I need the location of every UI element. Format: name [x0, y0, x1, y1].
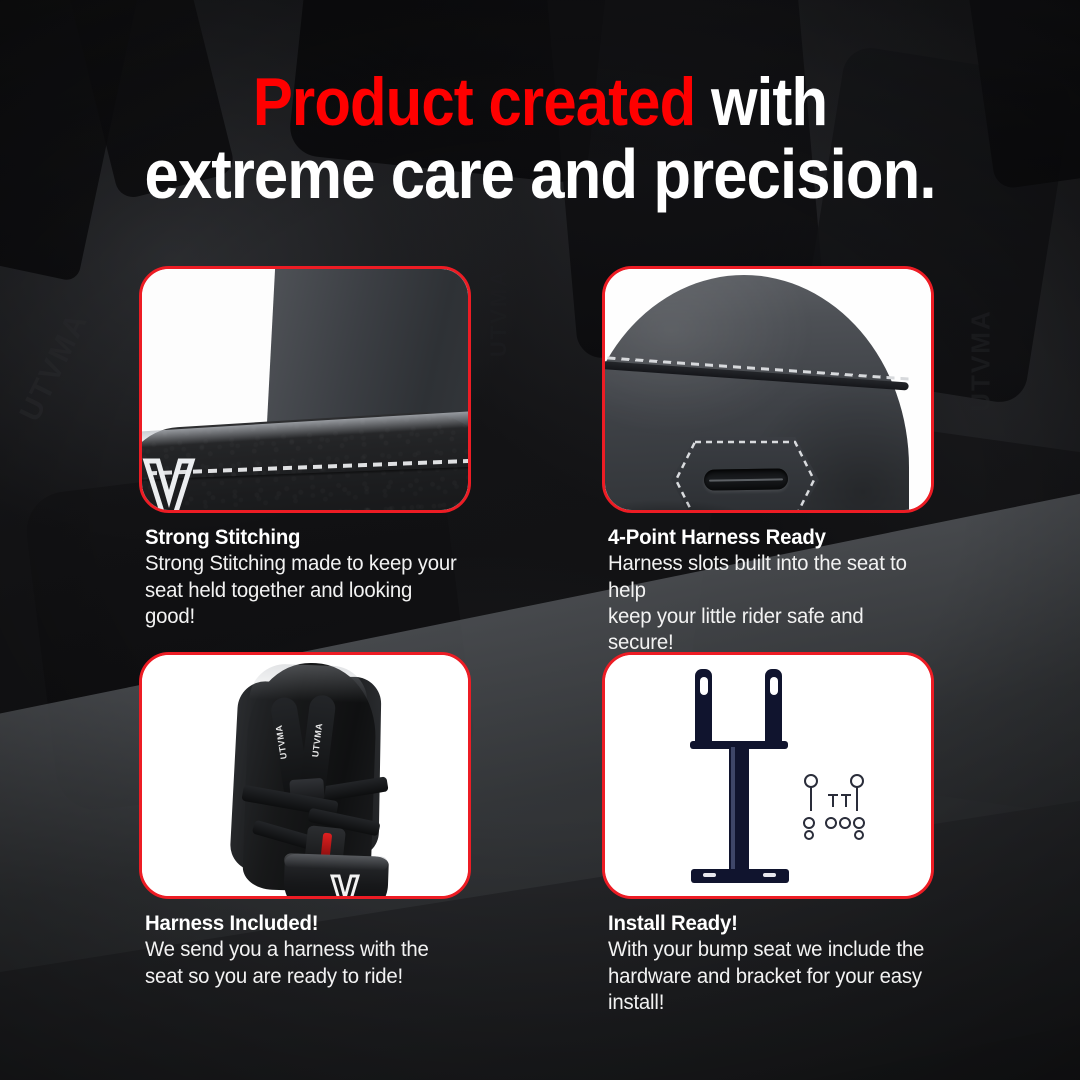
feature-card-harness-ready[interactable]: 4-Point Harness Ready Harness slots buil…: [602, 266, 934, 657]
feature-body: Strong Stitching made to keep your seat …: [145, 551, 461, 630]
feature-title: Install Ready!: [608, 912, 924, 935]
feature-text-strong-stitching: Strong Stitching Strong Stitching made t…: [139, 526, 471, 630]
seat-shadow: [602, 499, 765, 513]
feature-card-strong-stitching[interactable]: Strong Stitching Strong Stitching made t…: [139, 266, 471, 630]
feature-image-harness-ready: [602, 266, 934, 513]
bracket-slot-right: [770, 677, 778, 695]
feature-grid: Strong Stitching Strong Stitching made t…: [0, 0, 1080, 1080]
base-plate-slot-right: [763, 873, 776, 877]
bracket-post-highlight: [731, 747, 735, 871]
feature-card-install-ready[interactable]: Install Ready! With your bump seat we in…: [602, 652, 934, 1016]
promo-canvas: UTVMA UTVMA UTVMA Product created with e…: [0, 0, 1080, 1080]
feature-body: We send you a harness with the seat so y…: [145, 937, 461, 990]
feature-image-strong-stitching: [139, 266, 471, 513]
feature-title: Harness Included!: [145, 912, 461, 935]
feature-body: With your bump seat we include the hardw…: [608, 937, 924, 1016]
feature-image-harness-included: UTVMA UTVMA: [139, 652, 471, 899]
brand-logo-icon: [328, 873, 362, 899]
brand-logo-icon: [139, 455, 200, 513]
feature-text-install-ready: Install Ready! With your bump seat we in…: [602, 912, 934, 1016]
feature-text-harness-included: Harness Included! We send you a harness …: [139, 912, 471, 990]
bracket-slot-left: [700, 677, 708, 695]
feature-image-install-ready: [602, 652, 934, 899]
base-plate-slot-left: [703, 873, 716, 877]
feature-text-harness-ready: 4-Point Harness Ready Harness slots buil…: [602, 526, 934, 657]
feature-card-harness-included[interactable]: UTVMA UTVMA Harness Included! We send yo…: [139, 652, 471, 990]
hardware-kit-icon: [801, 773, 893, 841]
feature-body: Harness slots built into the seat to hel…: [608, 551, 924, 657]
feature-title: 4-Point Harness Ready: [608, 526, 924, 549]
feature-title: Strong Stitching: [145, 526, 461, 549]
